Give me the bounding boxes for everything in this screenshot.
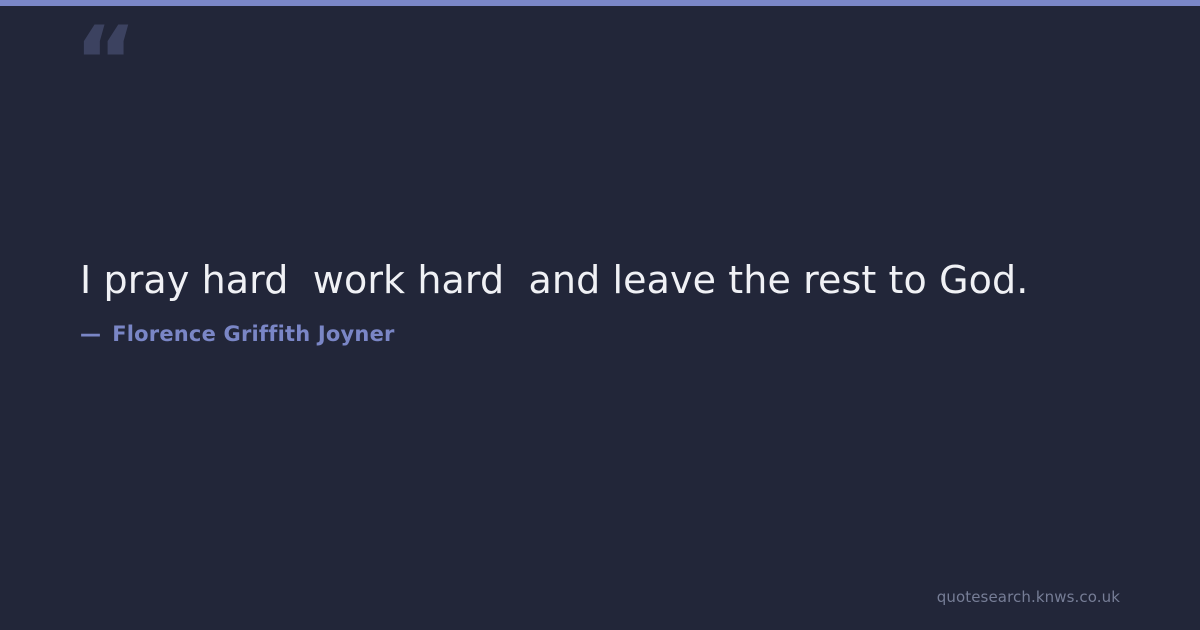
quote-text: I pray hard work hard and leave the rest… [80, 256, 1130, 305]
quotation-mark-icon: “ [74, 14, 135, 110]
top-accent-bar [0, 0, 1200, 6]
site-watermark: quotesearch.knws.co.uk [937, 588, 1120, 606]
attribution-author-name: Florence Griffith Joyner [112, 322, 394, 346]
attribution-dash: — [80, 322, 101, 346]
quote-card: “ I pray hard work hard and leave the re… [0, 0, 1200, 630]
quote-attribution: — Florence Griffith Joyner [80, 322, 395, 346]
